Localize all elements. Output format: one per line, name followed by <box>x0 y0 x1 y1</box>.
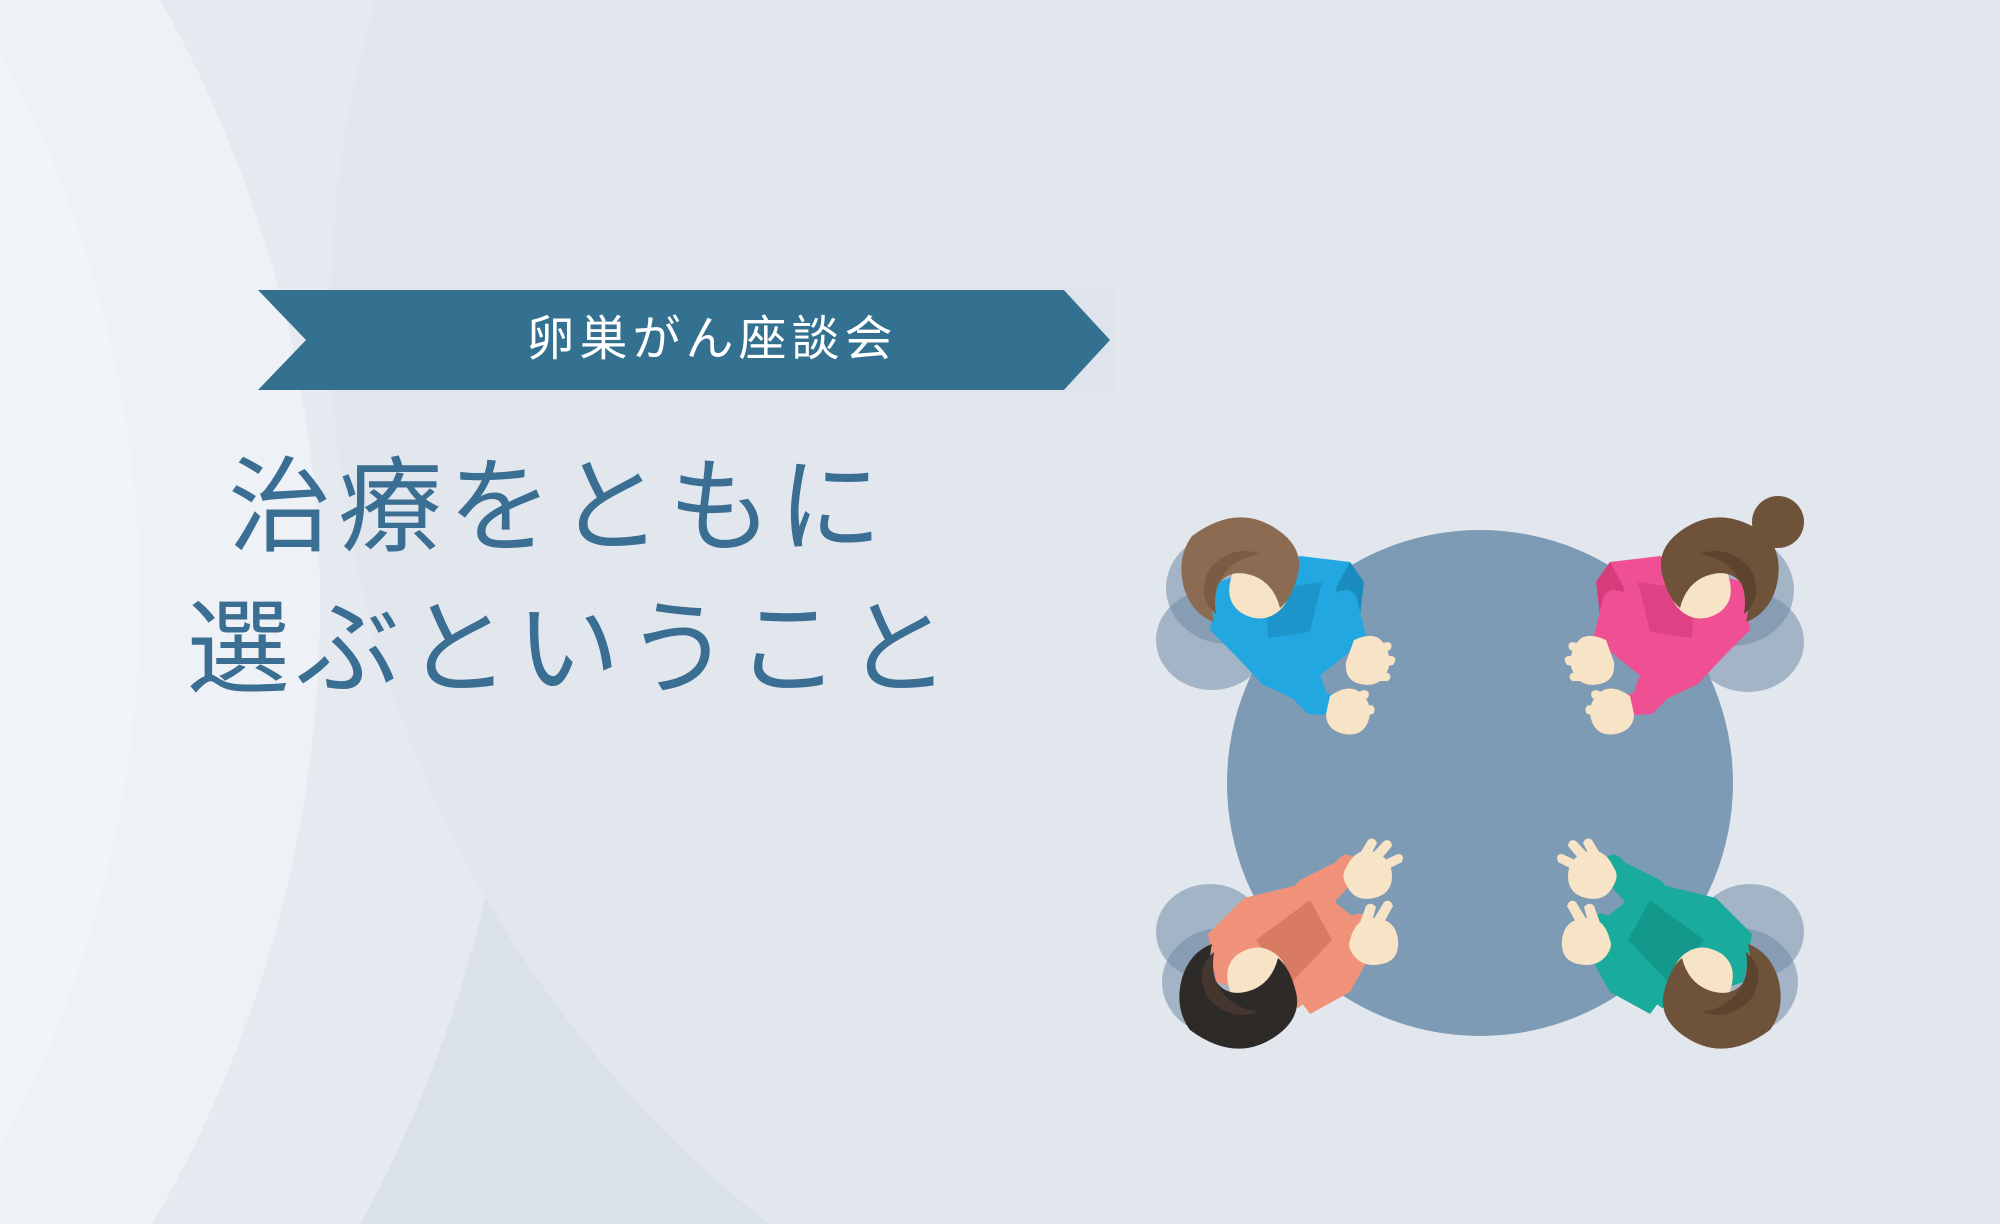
round-table-illustration: .tbl { fill:#7e9bb5; } .shd { fill:#6f8b… <box>1150 470 1810 1090</box>
page-title-line-1: 治療をともに <box>228 438 1208 580</box>
hand <box>1565 636 1614 685</box>
category-ribbon-label: 卵巣がん座談会 <box>470 316 897 364</box>
poster-canvas: 卵巣がん座談会 治療をともに 選ぶということ .tbl { fill:#7e9b… <box>0 0 2000 1224</box>
page-title: 治療をともに 選ぶということ <box>228 438 1208 722</box>
page-title-line-2: 選ぶということ <box>186 580 1208 722</box>
category-ribbon: 卵巣がん座談会 <box>258 290 1110 390</box>
hand <box>1346 636 1395 685</box>
